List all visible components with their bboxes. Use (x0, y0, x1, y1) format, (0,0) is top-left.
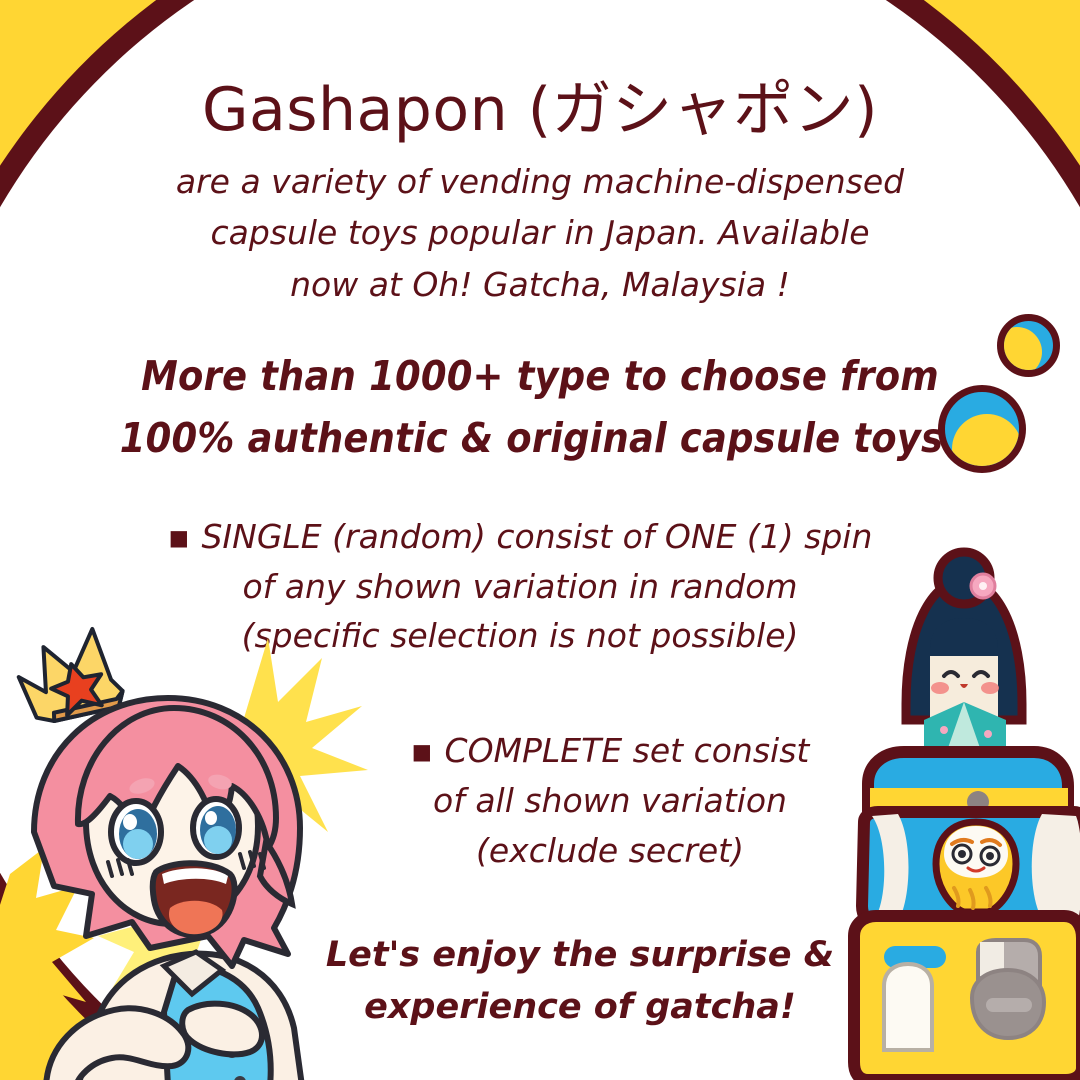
headline-block: More than 1000+ type to choose from 100%… (60, 345, 1020, 470)
kokeshi-doll-icon (906, 552, 1022, 748)
gashapon-machine-icon (828, 516, 1080, 1080)
headline-line: 100% authentic & original capsule toys! (60, 407, 1020, 469)
daruma-doll-icon (936, 822, 1016, 912)
capsule-half (952, 414, 1022, 473)
capsule-toy-large-icon (938, 385, 1026, 473)
complete-option-line-3: (exclude secret) (330, 826, 890, 876)
intro-paragraph: are a variety of vending machine-dispens… (110, 156, 970, 310)
headline-line: More than 1000+ type to choose from (60, 345, 1020, 407)
single-option-text: SINGLE (random) consist of ONE (1) spin (201, 517, 872, 556)
complete-option-text: COMPLETE set consist (445, 731, 810, 770)
bullet-icon: ▪ (411, 731, 434, 770)
page-title: Gashapon (ガシャポン) (0, 78, 1080, 143)
single-option-line-2: of any shown variation in random (150, 562, 890, 612)
capsule-half (997, 327, 1042, 377)
bullet-icon: ▪ (168, 517, 191, 556)
single-option-line-1: ▪ SINGLE (random) consist of ONE (1) spi… (150, 512, 890, 562)
capsule-toy-small-icon (997, 314, 1060, 377)
complete-option-block: ▪ COMPLETE set consist of all shown vari… (330, 726, 890, 876)
complete-option-line-1: ▪ COMPLETE set consist (330, 726, 890, 776)
excited-girl-illustration (0, 636, 374, 1080)
intro-line: are a variety of vending machine-dispens… (110, 156, 970, 207)
complete-option-line-2: of all shown variation (330, 776, 890, 826)
gashapon-promo-poster: Gashapon (ガシャポン) are a variety of vendin… (0, 0, 1080, 1080)
intro-line: capsule toys popular in Japan. Available (110, 207, 970, 258)
intro-line: now at Oh! Gatcha, Malaysia ! (110, 259, 970, 310)
